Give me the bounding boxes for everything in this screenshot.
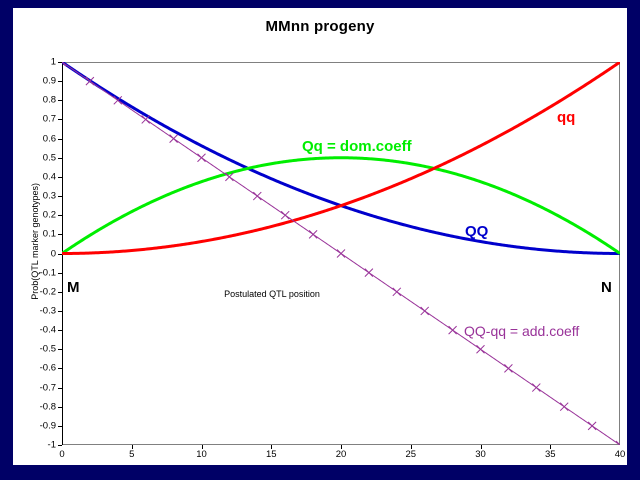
y-tick-mark — [58, 215, 62, 216]
y-tick-mark — [58, 426, 62, 427]
series-marker-QQ-qq — [532, 384, 540, 392]
x-tick-label: 20 — [336, 449, 347, 460]
y-tick-label: -0.8 — [40, 401, 56, 412]
y-tick-mark — [58, 62, 62, 63]
series-marker-QQ-qq — [365, 269, 373, 277]
x-tick-mark — [202, 445, 203, 449]
series-annotation-Qq: Qq = dom.coeff — [302, 138, 412, 155]
x-tick-mark — [132, 445, 133, 449]
y-axis-title: Prob(QTL marker genotypes) — [30, 183, 40, 300]
y-tick-mark — [58, 388, 62, 389]
series-marker-QQ-qq — [337, 250, 345, 258]
y-tick-label: -0.9 — [40, 420, 56, 431]
y-tick-label: 0.8 — [43, 95, 56, 106]
y-tick-label: 0.4 — [43, 171, 56, 182]
chart-canvas: MMnn progeny 10.90.80.70.60.50.40.30.20.… — [13, 8, 627, 465]
y-tick-mark — [58, 139, 62, 140]
series-marker-QQ-qq — [421, 307, 429, 315]
y-tick-label: -0.1 — [40, 267, 56, 278]
y-tick-mark — [58, 273, 62, 274]
x-tick-label: 5 — [129, 449, 134, 460]
series-marker-QQ-qq — [170, 135, 178, 143]
series-marker-QQ-qq — [588, 422, 596, 430]
x-tick-label: 35 — [545, 449, 556, 460]
x-tick-mark — [341, 445, 342, 449]
y-tick-label: 0 — [51, 248, 56, 259]
series-annotation-add-coeff: QQ-qq = add.coeff — [464, 323, 579, 339]
y-tick-label: 0.9 — [43, 76, 56, 87]
endpoint-label-m: M — [67, 279, 80, 296]
y-tick-mark — [58, 234, 62, 235]
y-tick-mark — [58, 196, 62, 197]
x-tick-mark — [550, 445, 551, 449]
x-axis-title: Postulated QTL position — [62, 289, 482, 299]
chart-title: MMnn progeny — [13, 18, 627, 35]
y-tick-label: 0.1 — [43, 229, 56, 240]
y-tick-label: -0.7 — [40, 382, 56, 393]
y-tick-mark — [58, 119, 62, 120]
y-tick-mark — [58, 311, 62, 312]
y-tick-mark — [58, 349, 62, 350]
y-tick-label: -0.6 — [40, 363, 56, 374]
y-tick-mark — [58, 100, 62, 101]
y-tick-label: -0.4 — [40, 325, 56, 336]
series-marker-QQ-qq — [560, 403, 568, 411]
y-tick-label: 1 — [51, 57, 56, 68]
series-marker-QQ-qq — [281, 211, 289, 219]
endpoint-label-n: N — [601, 279, 612, 296]
x-tick-label: 15 — [266, 449, 277, 460]
y-tick-mark — [58, 407, 62, 408]
y-tick-mark — [58, 254, 62, 255]
y-tick-label: 0.6 — [43, 133, 56, 144]
x-tick-label: 25 — [405, 449, 416, 460]
series-marker-QQ-qq — [253, 192, 261, 200]
series-marker-QQ-qq — [309, 230, 317, 238]
x-tick-label: 30 — [475, 449, 486, 460]
y-tick-mark — [58, 368, 62, 369]
x-tick-label: 40 — [615, 449, 626, 460]
series-annotation-qq: qq — [557, 109, 575, 126]
x-tick-mark — [481, 445, 482, 449]
y-tick-mark — [58, 177, 62, 178]
y-tick-label: 0.7 — [43, 114, 56, 125]
x-tick-label: 0 — [59, 449, 64, 460]
series-marker-QQ-qq — [198, 154, 206, 162]
slide-background: MMnn progeny 10.90.80.70.60.50.40.30.20.… — [0, 0, 640, 480]
series-marker-QQ-qq — [477, 345, 485, 353]
y-tick-label: 0.2 — [43, 210, 56, 221]
plot-area: 10.90.80.70.60.50.40.30.20.10-0.1-0.2-0.… — [62, 62, 620, 445]
y-tick-mark — [58, 81, 62, 82]
series-marker-QQ-qq — [504, 364, 512, 372]
plot-lines — [62, 62, 620, 445]
y-tick-label: 0.3 — [43, 191, 56, 202]
y-tick-label: -0.2 — [40, 286, 56, 297]
y-tick-label: -0.5 — [40, 344, 56, 355]
x-tick-mark — [271, 445, 272, 449]
y-tick-label: -0.3 — [40, 305, 56, 316]
y-tick-mark — [58, 158, 62, 159]
y-tick-mark — [58, 445, 62, 446]
x-tick-label: 10 — [196, 449, 207, 460]
series-marker-QQ-qq — [449, 326, 457, 334]
series-annotation-QQ: QQ — [465, 223, 488, 240]
y-tick-mark — [58, 330, 62, 331]
y-tick-label: -1 — [48, 440, 56, 451]
y-tick-label: 0.5 — [43, 152, 56, 163]
x-tick-mark — [411, 445, 412, 449]
